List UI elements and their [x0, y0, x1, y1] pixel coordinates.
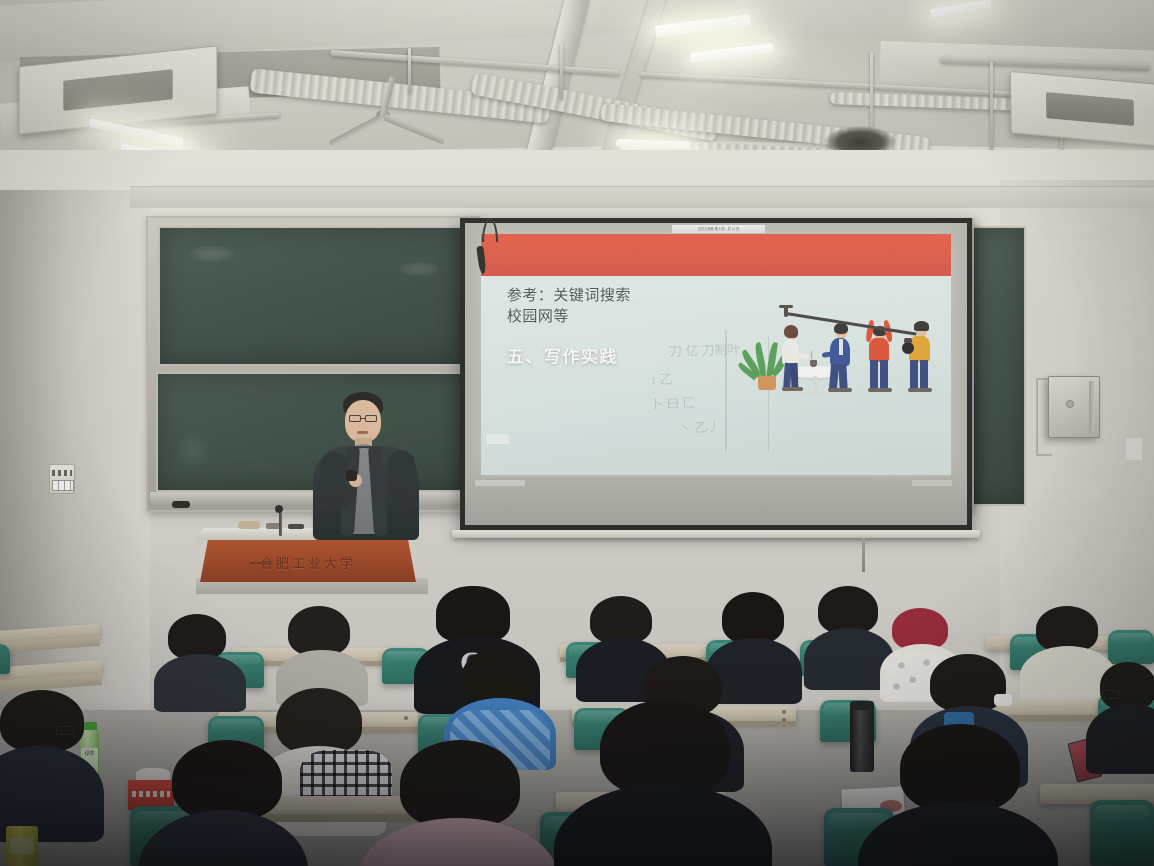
projection-screen: 幻灯片放映 第 5 张，共 12 张 五、写作实践 参考：关键词搜索 校园网等 …: [460, 218, 972, 530]
screen-pull-cord[interactable]: [862, 538, 865, 572]
light-switch-panel[interactable]: [49, 464, 75, 494]
slide-body-line-2: 校园网等: [507, 306, 631, 328]
podium-engraving: 合肥工业大学: [200, 553, 416, 572]
ac-cassette-right: [1010, 71, 1154, 147]
slide-body: 参考：关键词搜索 校园网等: [507, 285, 631, 329]
screen-surface: 幻灯片放映 第 5 张，共 12 张 五、写作实践 参考：关键词搜索 校园网等 …: [465, 223, 967, 525]
seat[interactable]: [1090, 800, 1154, 866]
seat[interactable]: [0, 644, 10, 674]
laser-pointer: [346, 470, 357, 481]
bottle-label-text: 绿茶: [81, 748, 98, 757]
lecture-hall-photo: 幻灯片放映 第 5 张，共 12 张 五、写作实践 参考：关键词搜索 校园网等 …: [0, 0, 1154, 866]
boom-microphone-pole: [786, 312, 917, 335]
slide-title-bar: [481, 234, 951, 276]
bottle-cap: [82, 722, 97, 730]
screen-weight-bar: [452, 530, 980, 538]
interview-filming-illustration: [744, 306, 941, 446]
presenter-status-bar: 幻灯片放映 第 5 张，共 12 张: [671, 224, 766, 234]
slide-body-line-1: 参考：关键词搜索: [507, 285, 631, 307]
podium-microphone: [275, 505, 283, 513]
blackboard-eraser[interactable]: [172, 501, 190, 508]
blackboard-panel-right: [968, 226, 1026, 506]
lecturer: [305, 392, 435, 542]
seat[interactable]: [1108, 630, 1154, 664]
podium-microphone-stand: [279, 512, 282, 536]
plant-pot: [758, 376, 776, 390]
slide-corner-badge: [486, 434, 509, 444]
presenter-status-text: 幻灯片放映 第 5 张，共 12 张: [676, 225, 760, 233]
water-bottle-black[interactable]: [850, 708, 874, 772]
wall-control-box: [1048, 376, 1100, 438]
slide: 五、写作实践 参考：关键词搜索 校园网等 刀 亿 刀制叶 ↓ 乙 卜 曰 匚 丶…: [481, 234, 951, 476]
slide-title: 五、写作实践: [507, 342, 618, 367]
